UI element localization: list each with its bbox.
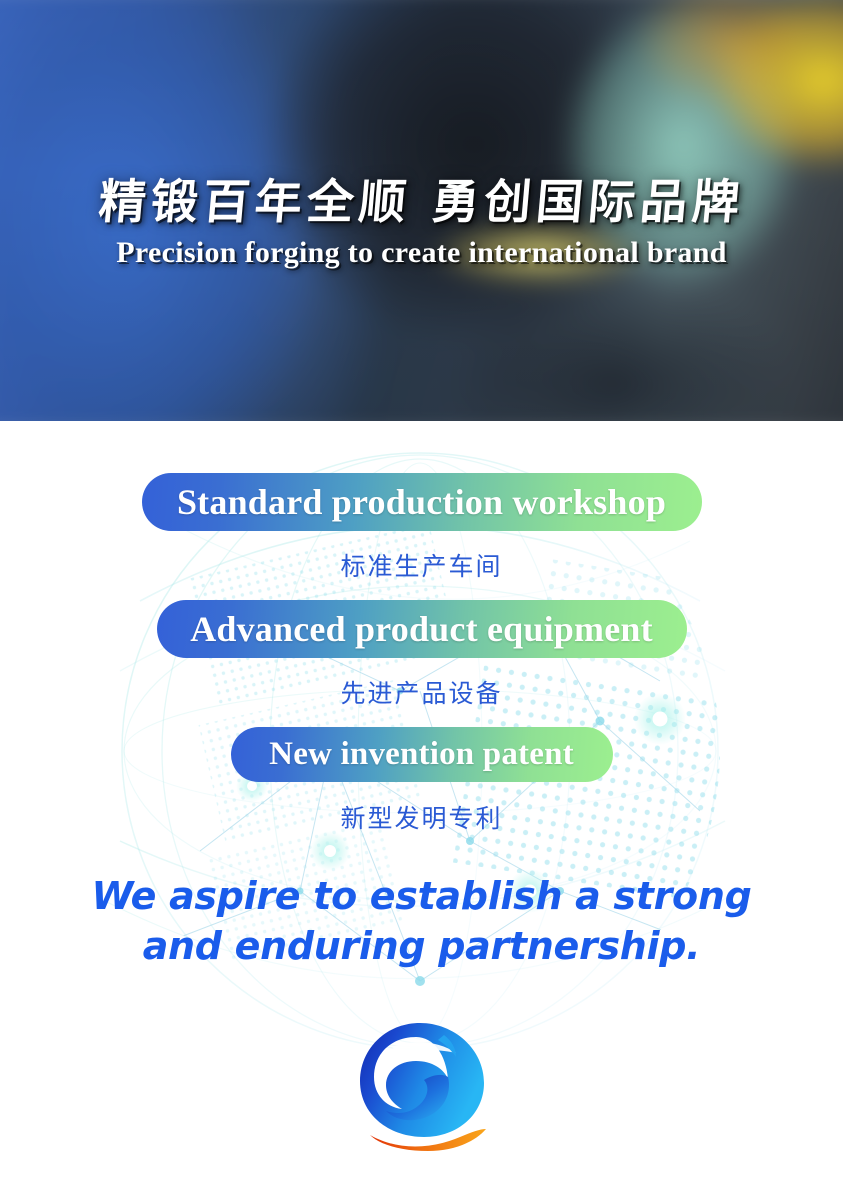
feature-item-1: Standard production workshop 标准生产车间 — [0, 473, 843, 583]
poster-page: 精锻百年全顺 勇创国际品牌 Precision forging to creat… — [0, 0, 843, 1191]
features-section: Standard production workshop 标准生产车间 Adva… — [0, 421, 843, 1191]
feature-pill-advanced-product-equipment[interactable]: Advanced product equipment — [157, 600, 687, 658]
logo-container — [0, 1019, 843, 1156]
feature-list: Standard production workshop 标准生产车间 Adva… — [0, 473, 843, 835]
feature-item-2: Advanced product equipment 先进产品设备 — [0, 600, 843, 710]
tagline-line-1: We aspire to establish a strong — [0, 871, 843, 921]
tagline-line-2: and enduring partnership. — [0, 921, 843, 971]
feature-caption-new-invention-patent: 新型发明专利 — [0, 799, 843, 835]
hero-headline-english: Precision forging to create internationa… — [0, 236, 843, 270]
partnership-tagline: We aspire to establish a strong and endu… — [0, 871, 843, 971]
feature-caption-standard-production-workshop: 标准生产车间 — [0, 547, 843, 583]
feature-caption-advanced-product-equipment: 先进产品设备 — [0, 674, 843, 710]
company-swirl-logo-icon — [352, 1019, 492, 1151]
feature-item-3: New invention patent 新型发明专利 — [0, 727, 843, 835]
feature-pill-new-invention-patent[interactable]: New invention patent — [231, 727, 613, 782]
feature-pill-standard-production-workshop[interactable]: Standard production workshop — [142, 473, 702, 531]
hero-banner: 精锻百年全顺 勇创国际品牌 Precision forging to creat… — [0, 0, 843, 421]
hero-text-block: 精锻百年全顺 勇创国际品牌 Precision forging to creat… — [0, 178, 843, 270]
hero-headline-chinese: 精锻百年全顺 勇创国际品牌 — [0, 178, 843, 227]
